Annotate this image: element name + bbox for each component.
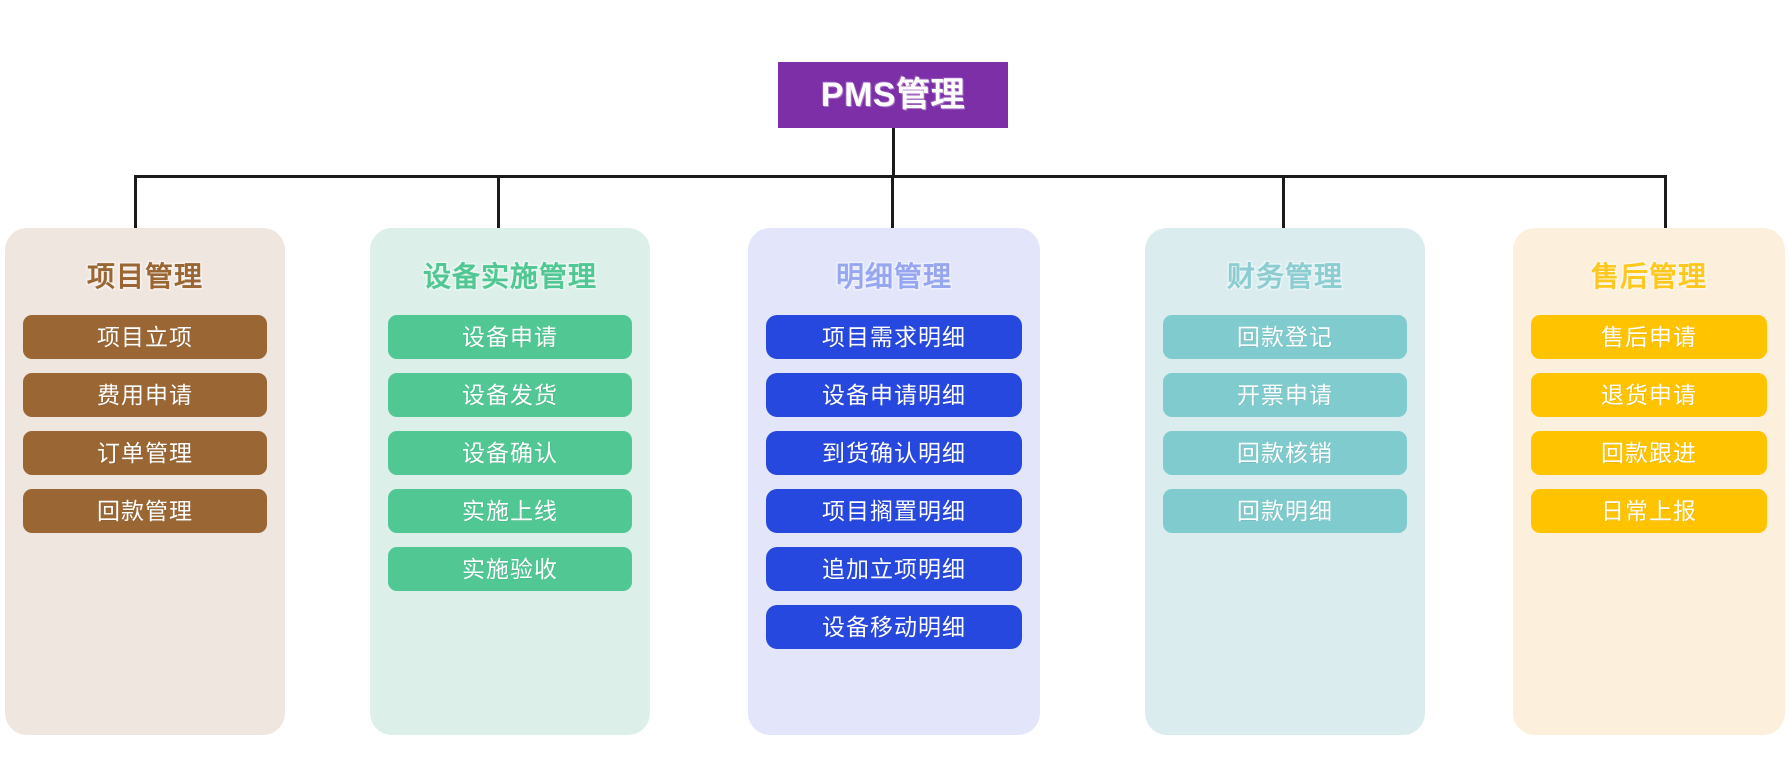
branch-item[interactable]: 实施验收: [388, 547, 632, 591]
branch-card-project-management: 项目管理 项目立项 费用申请 订单管理 回款管理: [5, 228, 285, 735]
branch-card-equipment-implementation-management: 设备实施管理 设备申请 设备发货 设备确认 实施上线 实施验收: [370, 228, 650, 735]
branch-item[interactable]: 设备申请明细: [766, 373, 1022, 417]
branch-item[interactable]: 项目立项: [23, 315, 267, 359]
branch-item[interactable]: 项目需求明细: [766, 315, 1022, 359]
branch-item[interactable]: 日常上报: [1531, 489, 1767, 533]
branch-item[interactable]: 实施上线: [388, 489, 632, 533]
branch-item-list-finance-management: 回款登记 开票申请 回款核销 回款明细: [1145, 315, 1425, 533]
branch-item-list-aftersales-management: 售后申请 退货申请 回款跟进 日常上报: [1513, 315, 1785, 533]
branch-card-detail-management: 明细管理 项目需求明细 设备申请明细 到货确认明细 项目搁置明细 追加立项明细 …: [748, 228, 1040, 735]
branch-item[interactable]: 追加立项明细: [766, 547, 1022, 591]
branch-item[interactable]: 设备申请: [388, 315, 632, 359]
connector-drop-5: [1664, 177, 1667, 229]
root-node-label: PMS管理: [821, 78, 965, 112]
branch-item[interactable]: 回款核销: [1163, 431, 1407, 475]
connector-horizontal-bus: [134, 175, 1667, 178]
connector-drop-4: [1282, 177, 1285, 229]
branch-title-finance-management: 财务管理: [1145, 263, 1425, 291]
connector-drop-1: [134, 177, 137, 229]
branch-card-finance-management: 财务管理 回款登记 开票申请 回款核销 回款明细: [1145, 228, 1425, 735]
connector-drop-3: [891, 177, 894, 229]
branch-title-project-management: 项目管理: [5, 263, 285, 291]
branch-item[interactable]: 费用申请: [23, 373, 267, 417]
branch-item-list-equipment-implementation-management: 设备申请 设备发货 设备确认 实施上线 实施验收: [370, 315, 650, 591]
branch-item[interactable]: 开票申请: [1163, 373, 1407, 417]
connector-drop-2: [497, 177, 500, 229]
diagram-canvas: PMS管理 项目管理 项目立项 费用申请 订单管理 回款管理 设备实施管理 设备…: [0, 0, 1790, 768]
branch-card-aftersales-management: 售后管理 售后申请 退货申请 回款跟进 日常上报: [1513, 228, 1785, 735]
branch-item[interactable]: 设备发货: [388, 373, 632, 417]
branch-title-detail-management: 明细管理: [748, 263, 1040, 291]
branch-item[interactable]: 设备确认: [388, 431, 632, 475]
branch-title-equipment-implementation-management: 设备实施管理: [370, 263, 650, 291]
branch-item[interactable]: 项目搁置明细: [766, 489, 1022, 533]
branch-item[interactable]: 回款登记: [1163, 315, 1407, 359]
root-node-pms[interactable]: PMS管理: [778, 62, 1008, 128]
branch-item-list-project-management: 项目立项 费用申请 订单管理 回款管理: [5, 315, 285, 533]
branch-item[interactable]: 回款管理: [23, 489, 267, 533]
branch-item[interactable]: 设备移动明细: [766, 605, 1022, 649]
branch-item-list-detail-management: 项目需求明细 设备申请明细 到货确认明细 项目搁置明细 追加立项明细 设备移动明…: [748, 315, 1040, 649]
connector-root-vertical: [892, 128, 895, 177]
branch-item[interactable]: 回款明细: [1163, 489, 1407, 533]
branch-item[interactable]: 回款跟进: [1531, 431, 1767, 475]
branch-item[interactable]: 售后申请: [1531, 315, 1767, 359]
branch-item[interactable]: 到货确认明细: [766, 431, 1022, 475]
branch-item[interactable]: 退货申请: [1531, 373, 1767, 417]
branch-title-aftersales-management: 售后管理: [1513, 263, 1785, 291]
branch-item[interactable]: 订单管理: [23, 431, 267, 475]
